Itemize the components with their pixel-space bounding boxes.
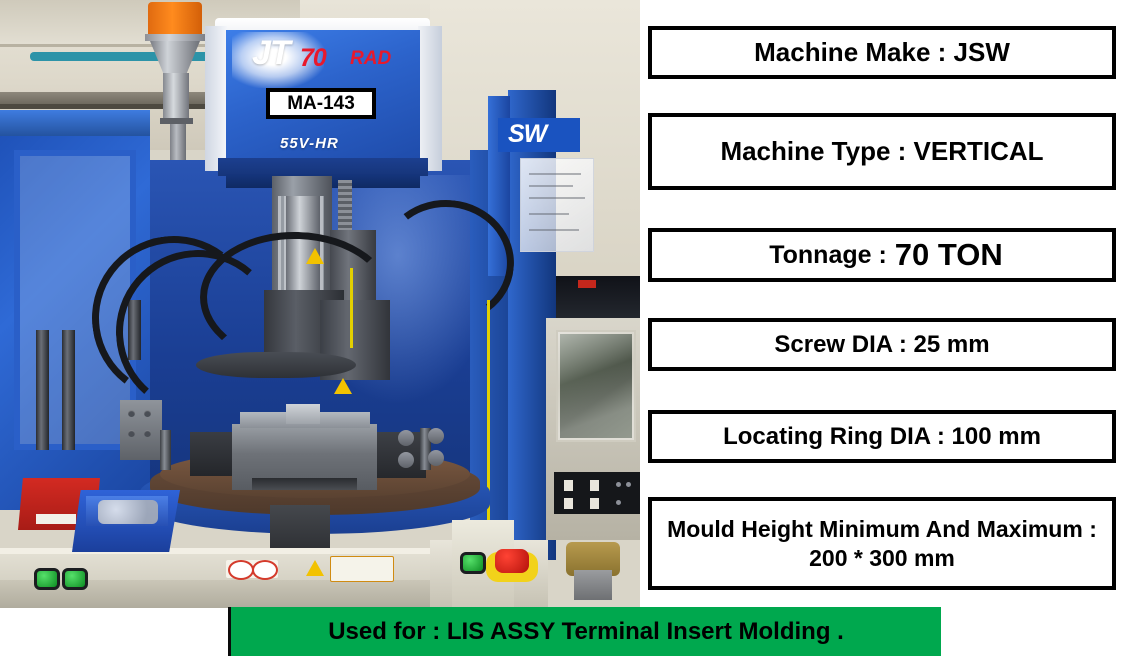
spec-label-mould-height: Mould Height Minimum And Maximum : 200 *… [652,515,1112,571]
start-button-left-2[interactable] [62,568,88,590]
eye-protection-icon-2 [252,560,278,580]
usage-footer-bar: Used for : LIS ASSY Terminal Insert Mold… [228,607,941,656]
clamp-knob-4 [428,450,444,466]
eye-protection-icon-1 [228,560,254,580]
spec-box-locating-ring-dia: Locating Ring DIA : 100 mm [648,410,1116,463]
usage-footer-label: Used for : LIS ASSY Terminal Insert Mold… [328,618,844,646]
bench-edge-highlight [0,548,470,554]
slide-root: JT 70 RAD 55V-HR MA-143 SW [0,0,1125,658]
clamp-knob-2 [428,428,444,444]
machine-brand-logo: JT [252,34,290,73]
safety-guard-left-top [0,110,150,136]
start-button-left-1[interactable] [34,568,60,590]
parts-in-bin [98,500,158,524]
posted-document [520,158,594,252]
mold-parting-slot [252,478,357,490]
machine-head-right-edge [418,26,442,171]
side-bracket [120,400,162,460]
warning-triangle-icon-1 [306,248,324,264]
instruction-sticker [330,556,394,582]
spec-box-mould-height: Mould Height Minimum And Maximum : 200 *… [648,497,1116,590]
spec-label-machine-type: Machine Type : VERTICAL [712,136,1051,168]
panel-red-indicator [578,280,596,288]
machine-photo: JT 70 RAD 55V-HR MA-143 SW [0,0,640,608]
emergency-stop-button[interactable] [495,549,529,573]
spec-box-screw-dia: Screw DIA : 25 mm [648,318,1116,371]
panel-swivel-post [574,570,612,600]
spec-label-machine-make: Machine Make : JSW [746,37,1018,69]
control-panel-keypad[interactable] [554,472,640,514]
mold-block-left [190,432,234,476]
mold-insert [286,404,320,424]
spec-value-tonnage: 70 TON [895,237,1003,273]
material-hopper-lid [148,2,202,36]
warning-triangle-icon-2 [334,378,352,394]
spec-label-locating-ring-dia: Locating Ring DIA : 100 mm [715,422,1049,451]
spec-label-tonnage: Tonnage : [761,240,895,271]
maker-banner-text: SW [508,120,546,149]
clamp-knob-3 [398,452,414,468]
clamp-knob-1 [398,430,414,446]
material-hopper-band [145,34,205,41]
upper-dark-panel [556,276,640,318]
machine-model-suffix: RAD [350,48,391,70]
machine-model-code: 55V-HR [280,135,339,152]
spec-label-screw-dia: Screw DIA : 25 mm [766,330,997,359]
warning-triangle-icon-3 [306,560,324,576]
material-hopper-tube [163,73,189,123]
yellow-cable-1 [350,268,353,348]
screen-plastic-wrap [558,332,634,440]
spec-box-tonnage: Tonnage : 70 TON [648,228,1116,282]
vertical-pipe-2 [62,330,75,450]
mold-support-block [270,505,330,553]
tie-bar-left [160,430,171,470]
asset-tag-label: MA-143 [266,88,376,119]
machine-head-left-edge [205,26,227,171]
machine-model-number: 70 [300,44,326,73]
parts-bin-red-label [36,514,76,524]
spec-box-machine-type: Machine Type : VERTICAL [648,113,1116,190]
vertical-pipe-1 [36,330,49,450]
spec-box-machine-make: Machine Make : JSW [648,26,1116,79]
start-button-right[interactable] [460,552,486,574]
